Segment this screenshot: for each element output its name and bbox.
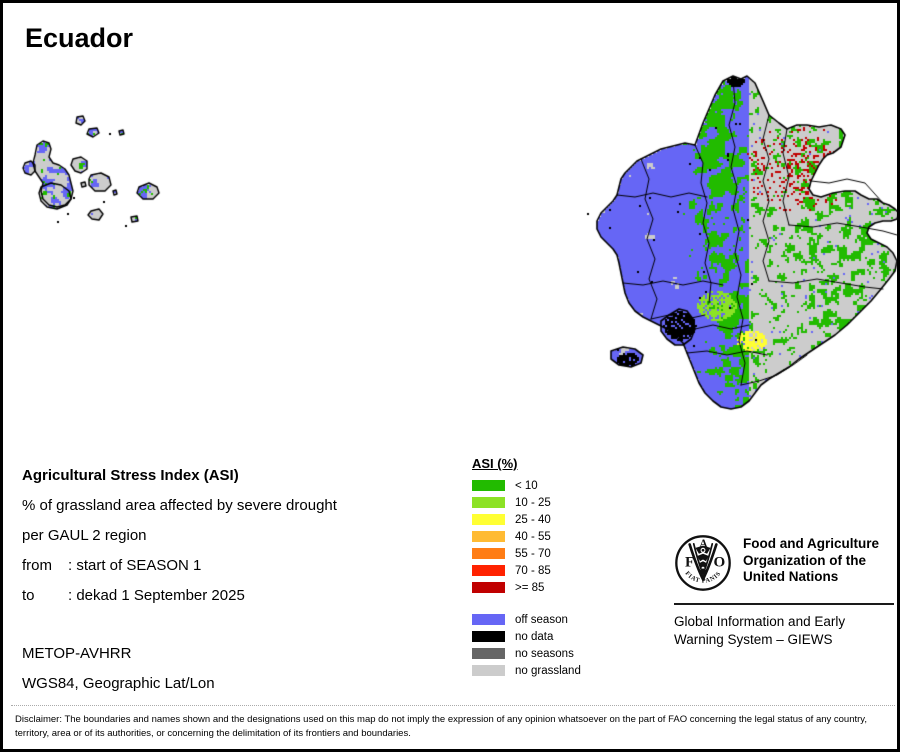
legend-status-swatch [472, 665, 505, 676]
fao-header: F O A FIAT PANIS Food and Agriculture Or… [674, 534, 894, 592]
legend-class-label: 55 - 70 [515, 548, 551, 560]
fao-name-line-3: United Nations [743, 569, 879, 586]
legend-class-swatch [472, 497, 505, 508]
legend-class-label: 10 - 25 [515, 497, 551, 509]
legend-class-row: 55 - 70 [472, 545, 581, 562]
legend-spacer [472, 596, 581, 611]
legend-status-label: off season [515, 614, 568, 626]
galapagos-islands-map [13, 113, 193, 243]
legend-class-label: 40 - 55 [515, 531, 551, 543]
caption-block: Agricultural Stress Index (ASI) % of gra… [22, 461, 442, 611]
legend-class-swatch [472, 582, 505, 593]
legend-status-label: no seasons [515, 648, 574, 660]
source-block: METOP-AVHRR WGS84, Geographic Lat/Lon [22, 639, 442, 699]
caption-from-row: from: start of SEASON 1 [22, 551, 442, 581]
fao-logo-block: F O A FIAT PANIS Food and Agriculture Or… [674, 534, 894, 649]
legend-class-row: 70 - 85 [472, 562, 581, 579]
legend-class-row: 40 - 55 [472, 528, 581, 545]
page-title: Ecuador [25, 23, 133, 54]
legend-class-swatch [472, 565, 505, 576]
fao-letter-a: A [700, 538, 708, 550]
legend-title: ASI (%) [472, 456, 581, 471]
giews-subtitle: Global Information and Early Warning Sys… [674, 613, 894, 649]
legend-status-row: no seasons [472, 645, 581, 662]
legend-class-label: >= 85 [515, 582, 544, 594]
legend-status-swatch [472, 648, 505, 659]
caption-heading: Agricultural Stress Index (ASI) [22, 461, 442, 491]
legend-class-swatch [472, 514, 505, 525]
caption-from-value: : start of SEASON 1 [68, 557, 201, 574]
projection-label: WGS84, Geographic Lat/Lon [22, 669, 442, 699]
fao-name-line-1: Food and Agriculture [743, 536, 879, 553]
legend-class-label: 70 - 85 [515, 565, 551, 577]
caption-region-level: per GAUL 2 region [22, 521, 442, 551]
fao-letter-f: F [685, 554, 694, 570]
caption-from-key: from [22, 551, 68, 581]
legend-class-label: < 10 [515, 480, 538, 492]
disclaimer-divider [11, 705, 895, 707]
fao-name-line-2: Organization of the [743, 553, 879, 570]
legend-class-swatch [472, 548, 505, 559]
fao-emblem-icon: F O A FIAT PANIS [674, 534, 732, 592]
caption-to-key: to [22, 581, 68, 611]
legend-status-swatch [472, 614, 505, 625]
caption-to-value: : dekad 1 September 2025 [68, 587, 245, 604]
legend-status-row: no grassland [472, 662, 581, 679]
legend-status-swatch [472, 631, 505, 642]
legend-class-row: 10 - 25 [472, 494, 581, 511]
map-legend: ASI (%) < 1010 - 2525 - 4040 - 5555 - 70… [472, 456, 581, 679]
giews-line-2: Warning System – GIEWS [674, 631, 894, 649]
legend-status-row: no data [472, 628, 581, 645]
legend-status-row: off season [472, 611, 581, 628]
fao-letter-o: O [713, 554, 725, 570]
ecuador-mainland-map [583, 63, 900, 413]
legend-status-label: no grassland [515, 665, 581, 677]
legend-class-list: < 1010 - 2525 - 4040 - 5555 - 7070 - 85>… [472, 477, 581, 596]
legend-class-swatch [472, 480, 505, 491]
legend-class-row: 25 - 40 [472, 511, 581, 528]
legend-class-row: < 10 [472, 477, 581, 494]
giews-line-1: Global Information and Early [674, 613, 894, 631]
legend-class-label: 25 - 40 [515, 514, 551, 526]
map-page: Ecuador Agricultural Stress Index (ASI) … [0, 0, 900, 752]
sensor-label: METOP-AVHRR [22, 639, 442, 669]
fao-organization-name: Food and Agriculture Organization of the… [743, 534, 879, 586]
legend-class-row: >= 85 [472, 579, 581, 596]
legend-class-swatch [472, 531, 505, 542]
legend-status-list: off seasonno datano seasonsno grassland [472, 611, 581, 679]
fao-divider [674, 603, 894, 605]
caption-to-row: to: dekad 1 September 2025 [22, 581, 442, 611]
disclaimer-text: Disclaimer: The boundaries and names sho… [15, 713, 891, 741]
legend-status-label: no data [515, 631, 553, 643]
caption-description: % of grassland area affected by severe d… [22, 491, 442, 521]
